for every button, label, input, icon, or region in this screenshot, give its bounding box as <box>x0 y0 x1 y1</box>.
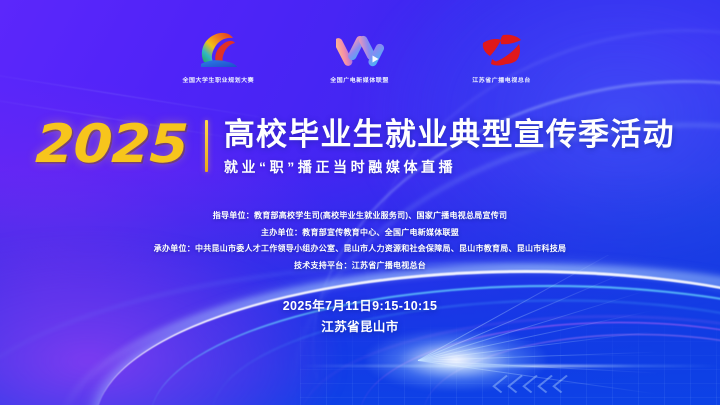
logo-row: 全国大学生职业规划大赛 <box>0 28 720 84</box>
logo-caption: 全国广电新媒体联盟 <box>331 75 390 84</box>
event-poster: 全国大学生职业规划大赛 <box>0 0 720 405</box>
logo-jiangsu-broadcasting-corporation: 江苏省广播电视总台 <box>448 28 556 84</box>
gradient-m-play-icon <box>336 28 384 70</box>
rainbow-crescent-icon <box>195 28 241 70</box>
event-datetime: 2025年7月11日9:15-10:15 <box>0 296 720 317</box>
title-block: 2025 高校毕业生就业典型宣传季活动 就业“职”播正当时融媒体直播 <box>0 116 720 176</box>
logo-national-broadcast-new-media-alliance: 全国广电新媒体联盟 <box>306 28 414 84</box>
red-abstract-mark-icon <box>479 28 525 70</box>
poster-content: 全国大学生职业规划大赛 <box>0 0 720 405</box>
credit-host-unit: 主办单位：教育部宣传教育中心、全国广电新媒体联盟 <box>0 225 720 242</box>
page-subtitle: 就业“职”播正当时融媒体直播 <box>224 158 675 176</box>
credit-organizer-unit: 承办单位：中共昆山市委人才工作领导小组办公室、昆山市人力资源和社会保障局、昆山市… <box>0 241 720 258</box>
event-location: 江苏省昆山市 <box>0 317 720 338</box>
logo-national-career-planning-competition: 全国大学生职业规划大赛 <box>164 28 272 84</box>
logo-caption: 全国大学生职业规划大赛 <box>182 75 254 84</box>
logo-caption: 江苏省广播电视总台 <box>473 75 532 84</box>
credits-block: 指导单位：教育部高校学生司(高校毕业生就业服务司)、国家广播电视总局宣传司 主办… <box>0 208 720 274</box>
title-texts: 高校毕业生就业典型宣传季活动 就业“职”播正当时融媒体直播 <box>224 116 675 176</box>
title-divider <box>205 120 208 172</box>
page-title: 高校毕业生就业典型宣传季活动 <box>224 116 675 153</box>
event-details: 2025年7月11日9:15-10:15 江苏省昆山市 <box>0 296 720 338</box>
credit-guidance-unit: 指导单位：教育部高校学生司(高校毕业生就业服务司)、国家广播电视总局宣传司 <box>0 208 720 225</box>
credit-tech-support: 技术支持平台：江苏省广播电视总台 <box>0 258 720 275</box>
year-2025: 2025 <box>35 116 206 176</box>
